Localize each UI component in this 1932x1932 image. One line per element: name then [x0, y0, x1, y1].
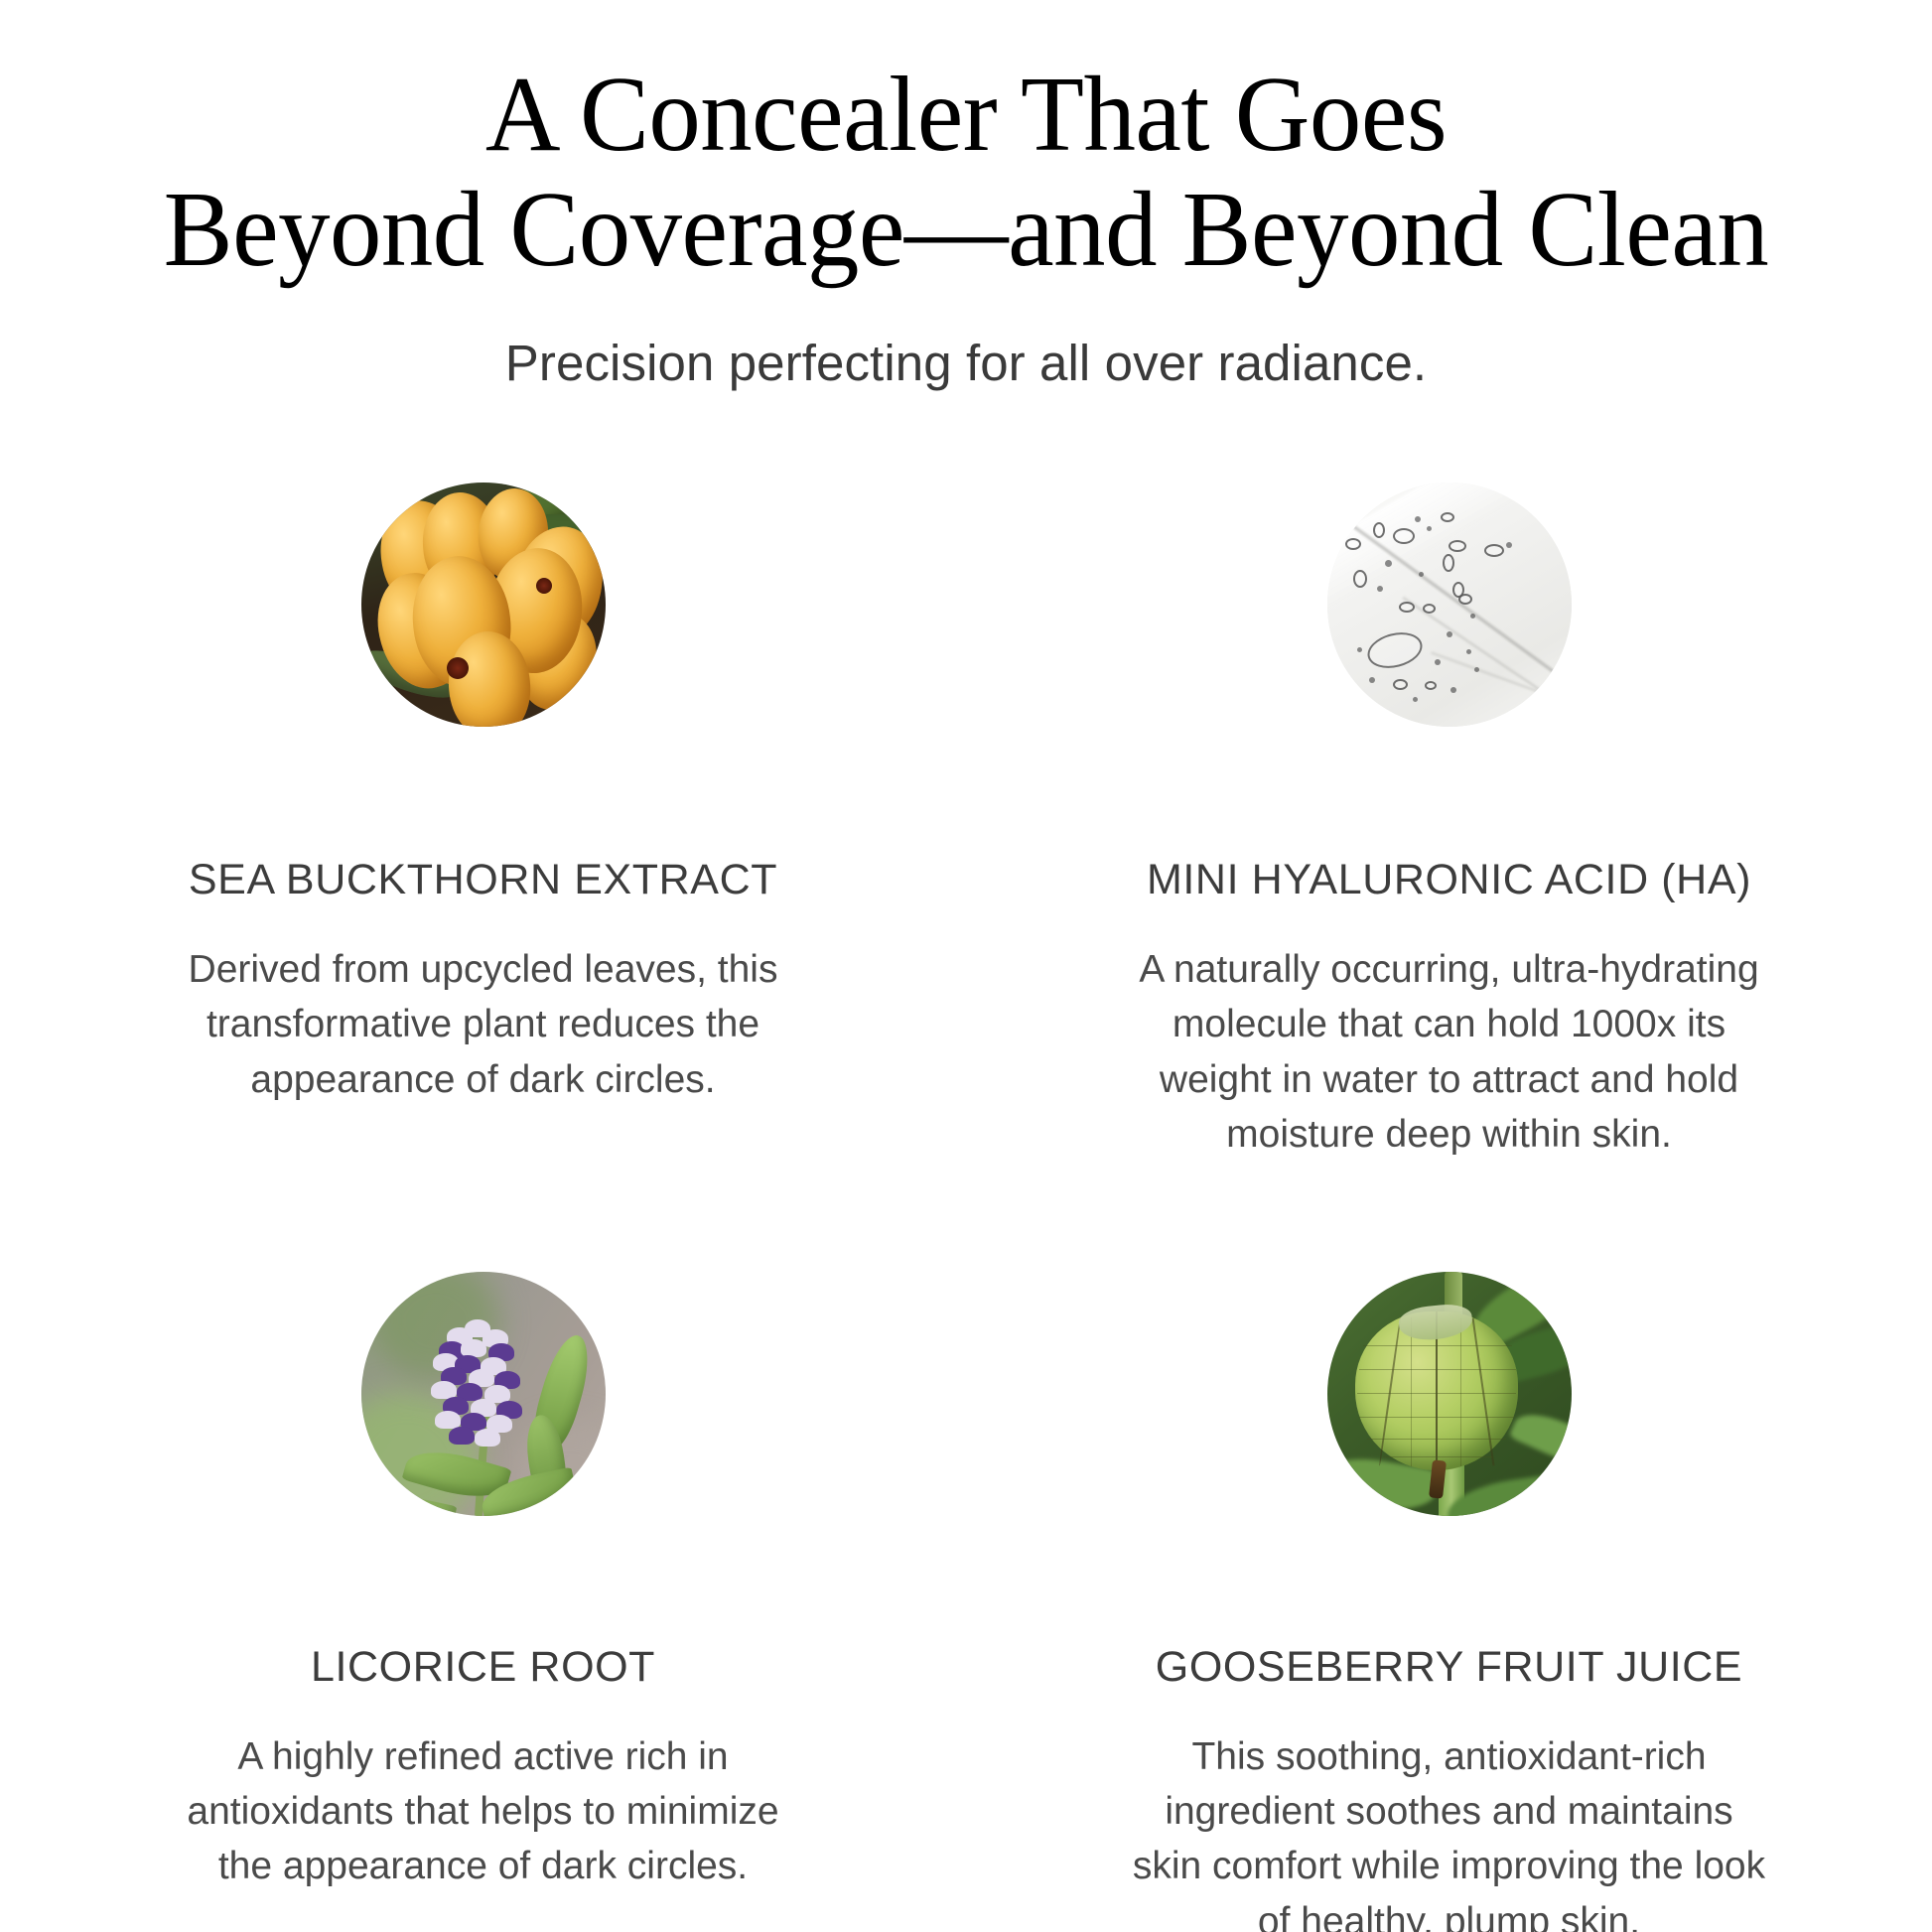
ingredient-card-hyaluronic-acid: MINI HYALURONIC ACID (HA) A naturally oc…	[966, 483, 1932, 1163]
page-header: A Concealer That Goes Beyond Coverage—an…	[0, 58, 1932, 393]
ingredient-title: GOOSEBERRY FRUIT JUICE	[1156, 1643, 1742, 1692]
page-title: A Concealer That Goes Beyond Coverage—an…	[29, 58, 1903, 287]
ingredient-description: This soothing, antioxidant-rich ingredie…	[1132, 1729, 1767, 1932]
page-title-line-1: A Concealer That Goes	[29, 58, 1903, 173]
hyaluronic-acid-gel-image	[1327, 483, 1572, 727]
ingredient-card-licorice-root: LICORICE ROOT A highly refined active ri…	[0, 1272, 966, 1932]
ingredient-description: Derived from upcycled leaves, this trans…	[166, 942, 801, 1107]
sea-buckthorn-berries-image	[361, 483, 606, 727]
licorice-root-flower-image	[361, 1272, 606, 1516]
ingredient-title: SEA BUCKTHORN EXTRACT	[189, 856, 777, 904]
ingredient-benefits-page: A Concealer That Goes Beyond Coverage—an…	[0, 0, 1932, 1932]
ingredient-card-gooseberry: GOOSEBERRY FRUIT JUICE This soothing, an…	[966, 1272, 1932, 1932]
ingredient-description: A naturally occurring, ultra-hydrating m…	[1132, 942, 1767, 1163]
gooseberry-fruit-image	[1327, 1272, 1572, 1516]
ingredients-grid: SEA BUCKTHORN EXTRACT Derived from upcyc…	[0, 483, 1932, 1932]
ingredient-description: A highly refined active rich in antioxid…	[166, 1729, 801, 1894]
ingredient-card-sea-buckthorn: SEA BUCKTHORN EXTRACT Derived from upcyc…	[0, 483, 966, 1163]
page-title-line-2: Beyond Coverage—and Beyond Clean	[29, 173, 1903, 288]
ingredient-title: LICORICE ROOT	[311, 1643, 655, 1692]
ingredient-title: MINI HYALURONIC ACID (HA)	[1147, 856, 1751, 904]
page-subtitle: Precision perfecting for all over radian…	[0, 333, 1932, 393]
